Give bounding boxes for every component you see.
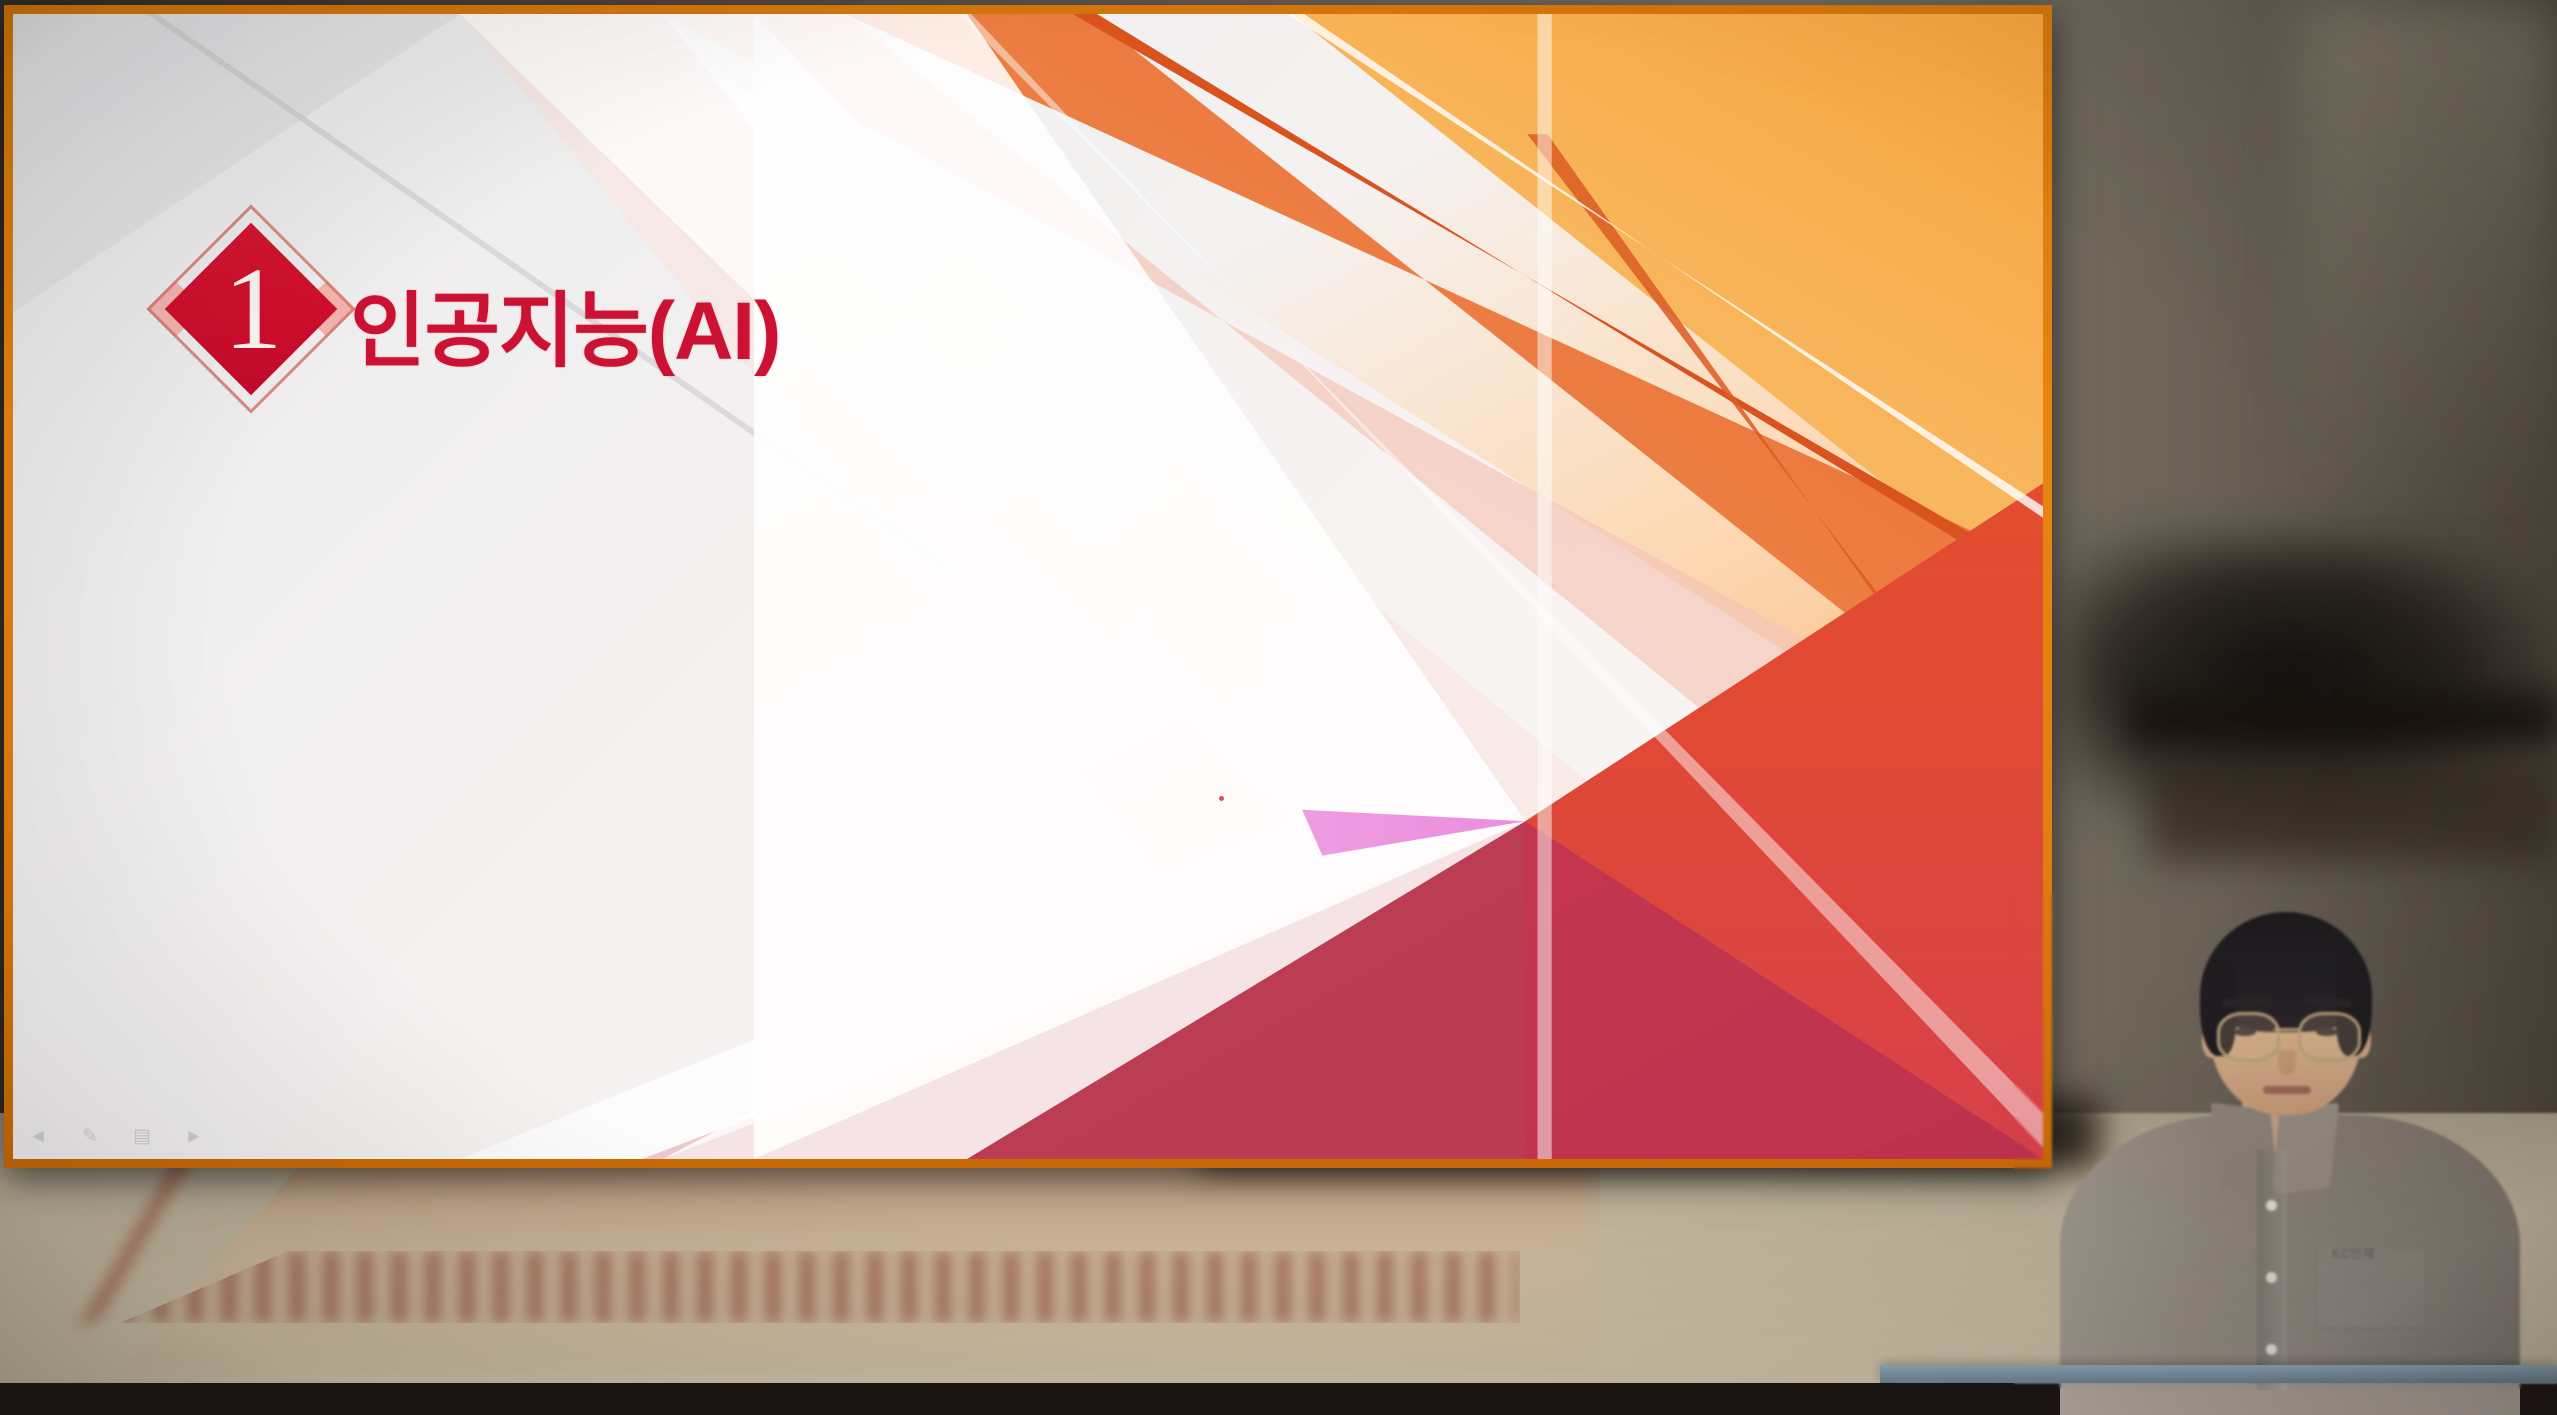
next-slide-icon[interactable]: ►: [181, 1125, 207, 1147]
shirt-button-top: [2266, 1200, 2277, 1211]
slide-title: 인공지능(AI): [350, 264, 780, 383]
glasses-lens-left: [2217, 1012, 2280, 1062]
podium-desk-edge: [1880, 1365, 2557, 1383]
shirt-button-bottom: [2266, 1344, 2277, 1355]
presenter-person: KC인재: [2020, 900, 2557, 1383]
all-slides-icon[interactable]: ▤: [129, 1125, 155, 1147]
shirt-button-middle: [2266, 1272, 2277, 1283]
red-dot-artifact: [1219, 796, 1224, 801]
screen-bezel-inner: 1 인공지능(AI) ◄ ✎ ▤ ►: [13, 14, 2043, 1159]
presenter-mouth: [2263, 1086, 2311, 1094]
slideshow-controls-bar[interactable]: ◄ ✎ ▤ ►: [25, 1125, 207, 1147]
section-number-badge: 1: [161, 219, 341, 399]
presenter-pocket-logo: KC인재: [2332, 1245, 2375, 1262]
glasses-bridge: [2274, 1028, 2298, 1031]
glasses-lens-right: [2298, 1012, 2361, 1062]
wall-shelf: [2130, 690, 2557, 746]
presentation-screen-frame: 1 인공지능(AI) ◄ ✎ ▤ ►: [4, 5, 2052, 1168]
wall-cabinet: [2150, 760, 2557, 860]
previous-slide-icon[interactable]: ◄: [25, 1125, 51, 1147]
pen-tool-icon[interactable]: ✎: [77, 1125, 103, 1147]
powerpoint-slide[interactable]: 1 인공지능(AI) ◄ ✎ ▤ ►: [13, 14, 2043, 1159]
badge-number-label: 1: [161, 219, 341, 399]
presenter-nose: [2278, 1050, 2296, 1076]
wall-light-panel: [2300, 0, 2557, 500]
